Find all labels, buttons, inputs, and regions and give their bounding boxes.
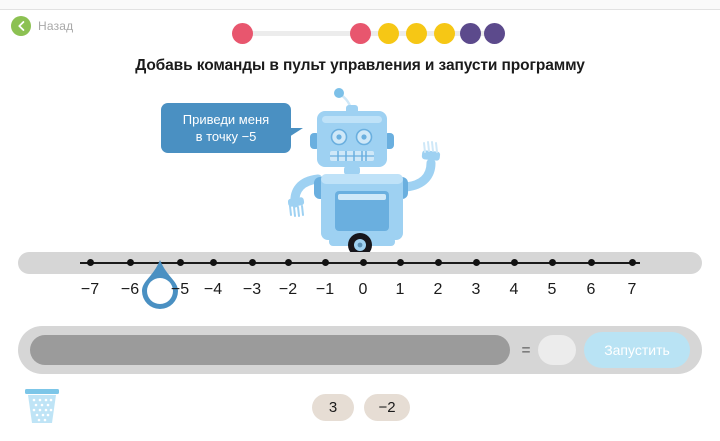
progress-dot — [434, 23, 455, 44]
number-line-label: 1 — [380, 281, 420, 299]
progress-dot — [460, 23, 481, 44]
number-line-tick[interactable] — [511, 259, 518, 266]
number-line-tick[interactable] — [177, 259, 184, 266]
number-line-marker-label: −5 — [160, 281, 200, 299]
number-line-label: 3 — [456, 281, 496, 299]
progress-dot — [378, 23, 399, 44]
number-line-tick[interactable] — [87, 259, 94, 266]
progress-dot — [406, 23, 427, 44]
number-line-tick[interactable] — [629, 259, 636, 266]
robot-antenna-bulb — [334, 88, 344, 98]
chevron-left-icon — [11, 16, 31, 36]
back-button-label: Назад — [38, 19, 73, 33]
number-line-label: 0 — [343, 281, 383, 299]
number-line-tick[interactable] — [210, 259, 217, 266]
number-line-label: −7 — [70, 281, 110, 299]
robot-eye-right — [361, 134, 366, 139]
bubble-line-2: в точку −5 — [196, 129, 257, 144]
robot-speech-bubble: Приведи меня в точку −5 — [161, 103, 291, 153]
progress-dot — [484, 23, 505, 44]
number-line-tick[interactable] — [435, 259, 442, 266]
number-line-tick[interactable] — [322, 259, 329, 266]
number-line-label: −1 — [305, 281, 345, 299]
number-line-tick[interactable] — [249, 259, 256, 266]
number-line-label: −3 — [232, 281, 272, 299]
number-line-tick[interactable] — [127, 259, 134, 266]
result-box — [538, 335, 576, 365]
run-button[interactable]: Запустить — [584, 332, 690, 368]
top-bar — [0, 0, 720, 10]
program-slot[interactable] — [30, 335, 510, 365]
trash-bin-icon[interactable] — [22, 386, 62, 426]
number-line-tick[interactable] — [285, 259, 292, 266]
bubble-line-1: Приведи меня — [183, 112, 269, 127]
robot-eye-left — [336, 134, 341, 139]
progress-dot — [350, 23, 371, 44]
number-line-label: −2 — [268, 281, 308, 299]
progress-dot — [232, 23, 253, 44]
number-line-label: 2 — [418, 281, 458, 299]
page-title: Добавь команды в пульт управления и запу… — [0, 57, 720, 75]
command-chip[interactable]: 3 — [312, 394, 354, 421]
control-panel: = Запустить — [18, 326, 702, 374]
number-line-tick[interactable] — [360, 259, 367, 266]
back-button[interactable]: Назад — [11, 16, 73, 36]
equals-sign: = — [518, 342, 534, 359]
lesson-screen: Назад Добавь команды в пульт управления … — [0, 0, 720, 441]
progress-track — [232, 31, 488, 36]
number-line-label: 7 — [612, 281, 652, 299]
number-line-label: −6 — [110, 281, 150, 299]
number-line-tick[interactable] — [549, 259, 556, 266]
number-line-tick[interactable] — [473, 259, 480, 266]
number-line-label: 6 — [571, 281, 611, 299]
command-chip[interactable]: −2 — [364, 394, 410, 421]
number-line-label: 4 — [494, 281, 534, 299]
number-line-tick[interactable] — [588, 259, 595, 266]
number-line-label: 5 — [532, 281, 572, 299]
number-line-tick[interactable] — [397, 259, 404, 266]
